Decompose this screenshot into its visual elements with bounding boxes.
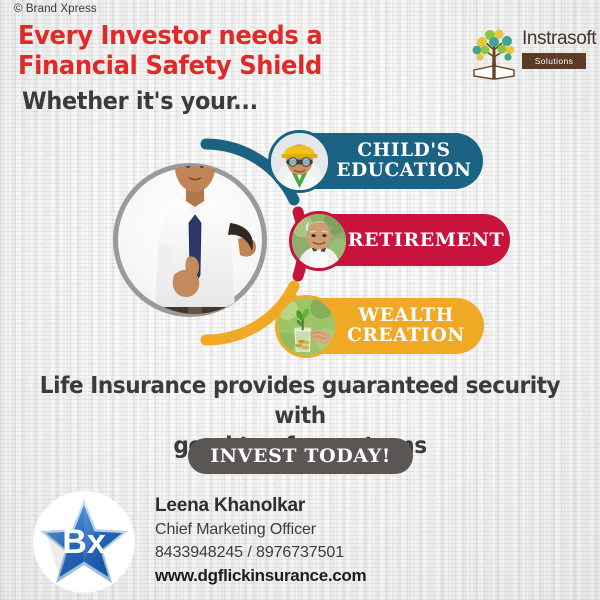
contact-website[interactable]: www.dgflickinsurance.com — [155, 564, 485, 588]
benefit-pill-education-line-2: EDUCATION — [336, 161, 471, 181]
benefit-thumb-retirement — [289, 211, 349, 271]
page-title: Every Investor needs a Financial Safety … — [18, 21, 409, 81]
contact-phone-numbers: 8433948245 / 8976737501 — [155, 541, 485, 564]
footer-brand-logo: Bx — [33, 491, 135, 593]
senior-man-photo — [292, 214, 346, 268]
brand-tagline-banner: Solutions — [522, 53, 586, 69]
footer-contact-block: Leena Khanolkar Chief Marketing Officer … — [155, 494, 485, 588]
hero-photo-ring — [113, 163, 267, 317]
contact-name: Leena Khanolkar — [155, 494, 485, 518]
headline-line-1: Every Investor needs a — [18, 21, 409, 51]
statement-line-1: Life Insurance provides guaranteed secur… — [33, 370, 567, 430]
child-engineer-photo — [271, 133, 328, 190]
poster-canvas: © Brand Xpress Every Investor needs a Fi… — [0, 0, 600, 600]
benefit-pill-retirement-line-1: RETIREMENT — [348, 230, 505, 251]
benefit-pill-education-line-1: CHILD'S — [336, 141, 471, 161]
invest-today-button[interactable]: INVEST TODAY! — [188, 438, 413, 474]
brand-name: Instrasoft — [522, 28, 588, 50]
benefit-pill-wealth-line-2: CREATION — [347, 326, 465, 346]
benefit-pill-wealth-line-1: WEALTH — [347, 306, 465, 326]
brand-logo: Instrasoft Solutions — [466, 24, 590, 86]
tree-book-icon — [468, 26, 520, 84]
contact-job-title: Chief Marketing Officer — [155, 518, 485, 541]
headline-line-2: Financial Safety Shield — [18, 51, 409, 81]
subheadline: Whether it's your... — [22, 87, 258, 115]
benefit-thumb-wealth — [275, 295, 338, 358]
plant-growing-from-coins-photo — [278, 298, 335, 355]
copyright-notice: © Brand Xpress — [14, 3, 97, 15]
brand-text-wrap: Instrasoft Solutions — [522, 28, 588, 69]
benefit-thumb-education — [268, 130, 331, 193]
blue-star-bx-logo: Bx — [33, 491, 135, 593]
svg-text:Bx: Bx — [62, 523, 106, 561]
